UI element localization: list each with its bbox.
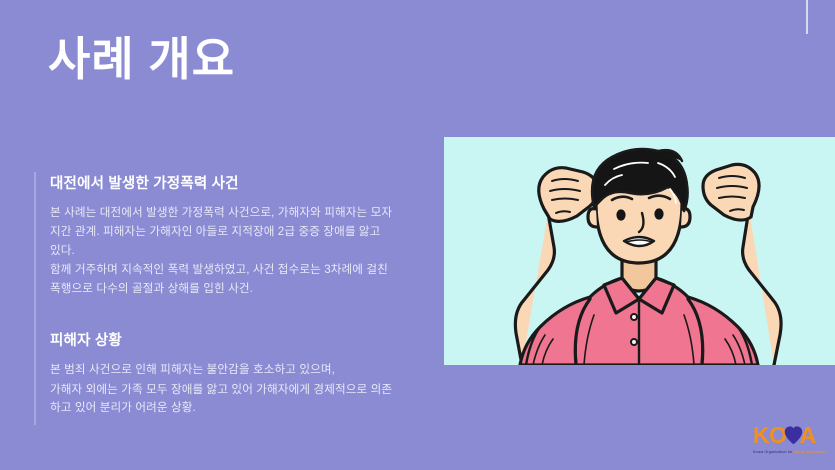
paragraph: 본 범죄 사건으로 인해 피해자는 불안감을 호소하고 있으며,: [50, 361, 394, 380]
top-right-accent-rule: [806, 0, 808, 34]
section-victim-status: 피해자 상황 본 범죄 사건으로 인해 피해자는 불안감을 호소하고 있으며, …: [50, 329, 394, 418]
page-title: 사례 개요: [48, 33, 235, 86]
paragraph: 가해자 외에는 가족 모두 장애를 앓고 있어 가해자에게 경제적으로 의존하고…: [50, 381, 394, 419]
section-heading-victim-status: 피해자 상황: [50, 329, 394, 350]
logo-tagline: Korea Organization for Victim Assistance: [753, 450, 827, 454]
logo-wordmark-left: KO: [753, 422, 787, 448]
paragraph: 함께 거주하며 지속적인 폭력 발생하였고, 사건 접수로는 3차례에 걸친 폭…: [50, 261, 394, 299]
logo-tagline-prefix: Korea Organization for: [753, 450, 794, 454]
slide-canvas: 사례 개요 대전에서 발생한 가정폭력 사건 본 사례는 대전에서 발생한 가정…: [0, 0, 835, 470]
illustration-raised-fists-man: [444, 137, 835, 365]
illustration-svg: [444, 137, 835, 365]
section-heading-case-overview: 대전에서 발생한 가정폭력 사건: [50, 172, 394, 193]
kova-logo: KOVA Korea Organization for Victim Assis…: [753, 424, 827, 458]
section-body-case-overview: 본 사례는 대전에서 발생한 가정폭력 사건으로, 가해자와 피해자는 모자지간…: [50, 204, 394, 299]
logo-tagline-highlight: Victim Assistance: [794, 450, 827, 454]
content-text-column: 대전에서 발생한 가정폭력 사건 본 사례는 대전에서 발생한 가정폭력 사건으…: [34, 172, 394, 425]
logo-wordmark: KOVA: [753, 424, 827, 447]
section-body-victim-status: 본 범죄 사건으로 인해 피해자는 불안감을 호소하고 있으며, 가해자 외에는…: [50, 361, 394, 418]
section-case-overview: 대전에서 발생한 가정폭력 사건 본 사례는 대전에서 발생한 가정폭력 사건으…: [50, 172, 394, 299]
paragraph: 본 사례는 대전에서 발생한 가정폭력 사건으로, 가해자와 피해자는 모자지간…: [50, 204, 394, 260]
heart-icon: [783, 425, 804, 446]
